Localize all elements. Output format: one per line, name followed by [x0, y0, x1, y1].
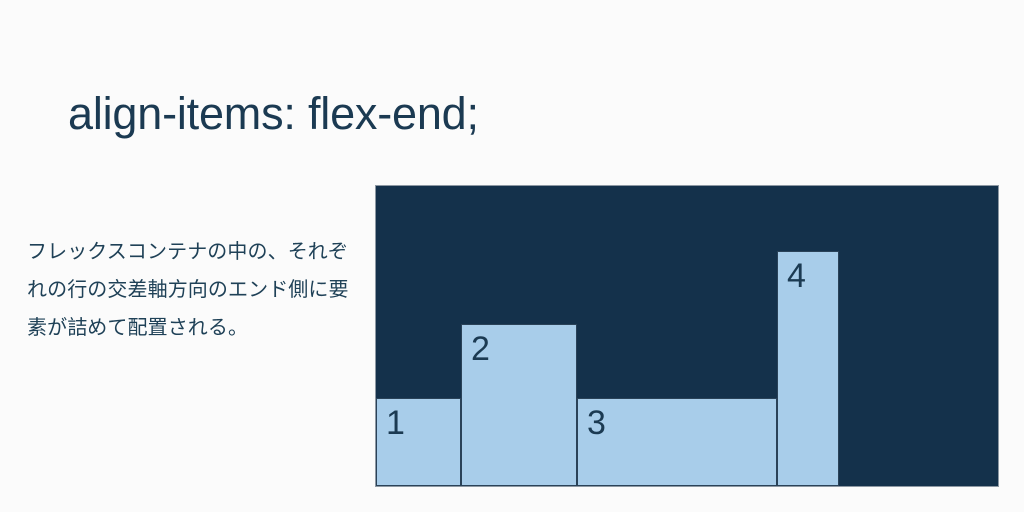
flex-item-1: 1: [376, 398, 461, 486]
flex-item-3: 3: [577, 398, 777, 486]
page-title: align-items: flex-end;: [68, 88, 479, 140]
flex-container-demo: 1 2 3 4: [375, 185, 999, 487]
description-text: フレックスコンテナの中の、それぞれの行の交差軸方向のエンド側に要素が詰めて配置さ…: [27, 233, 362, 347]
flex-item-4: 4: [777, 251, 839, 486]
flex-item-2: 2: [461, 324, 577, 486]
